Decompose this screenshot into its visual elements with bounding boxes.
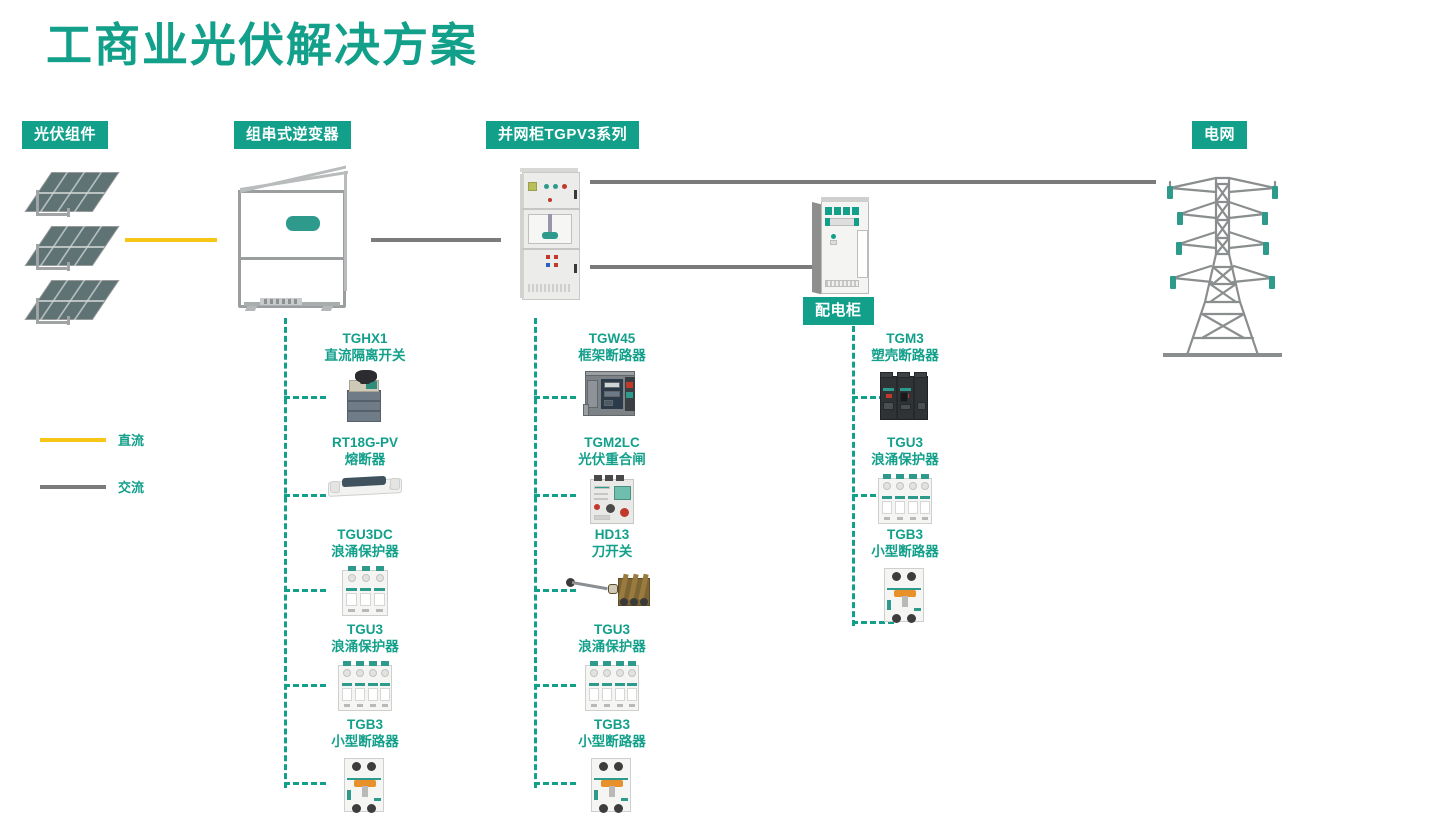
product-desc: 熔断器 bbox=[290, 451, 440, 468]
grid-cabinet-graphic bbox=[520, 168, 582, 300]
pv-panel-array-1 bbox=[26, 168, 110, 220]
product-desc: 光伏重合闸 bbox=[537, 451, 687, 468]
product-desc: 浪涌保护器 bbox=[537, 638, 687, 655]
stage-badge-distribution-cabinet[interactable]: 配电柜 bbox=[803, 297, 874, 325]
product-model: TGW45 bbox=[537, 330, 687, 347]
product-desc: 刀开关 bbox=[537, 543, 687, 560]
stage-badge-power-grid[interactable]: 电网 bbox=[1192, 121, 1247, 149]
product-desc: 直流隔离开关 bbox=[290, 347, 440, 364]
product-item[interactable]: TGM3 塑壳断路器 bbox=[830, 330, 980, 424]
product-desc: 塑壳断路器 bbox=[830, 347, 980, 364]
product-model: TGHX1 bbox=[290, 330, 440, 347]
product-item[interactable]: HD13 刀开关 bbox=[537, 526, 687, 614]
pv-panel-array-3 bbox=[26, 276, 110, 328]
product-model: TGB3 bbox=[290, 716, 440, 733]
product-model: TGU3DC bbox=[290, 526, 440, 543]
product-model: HD13 bbox=[537, 526, 687, 543]
product-item[interactable]: TGU3DC 浪涌保护器 bbox=[290, 526, 440, 620]
product-desc: 小型断路器 bbox=[290, 733, 440, 750]
product-model: TGU3 bbox=[290, 621, 440, 638]
product-item[interactable]: TGB3 小型断路器 bbox=[537, 716, 687, 816]
product-image-acb bbox=[581, 368, 643, 420]
pv-panel-array-2 bbox=[26, 222, 110, 274]
product-item[interactable]: TGU3 浪涌保护器 bbox=[537, 621, 687, 715]
legend-label-ac: 交流 bbox=[118, 477, 144, 496]
page-title: 工商业光伏解决方案 bbox=[46, 22, 478, 68]
connection-ac-grid-cabinet-to-grid bbox=[590, 180, 1156, 184]
string-inverter-graphic bbox=[234, 168, 374, 308]
product-model: TGU3 bbox=[830, 434, 980, 451]
product-model: TGB3 bbox=[537, 716, 687, 733]
product-desc: 浪涌保护器 bbox=[290, 638, 440, 655]
product-item[interactable]: TGB3 小型断路器 bbox=[290, 716, 440, 816]
product-desc: 框架断路器 bbox=[537, 347, 687, 364]
product-image-spd bbox=[581, 659, 643, 715]
product-model: TGU3 bbox=[537, 621, 687, 638]
connection-ac-inverter-to-grid-cabinet bbox=[371, 238, 501, 242]
connection-dc-pv-to-inverter bbox=[125, 238, 217, 242]
product-model: TGM2LC bbox=[537, 434, 687, 451]
power-grid-pylon-graphic bbox=[1155, 162, 1290, 360]
product-desc: 浪涌保护器 bbox=[830, 451, 980, 468]
product-image-knife-switch bbox=[564, 564, 660, 614]
product-item[interactable]: TGB3 小型断路器 bbox=[830, 526, 980, 626]
legend-item-dc: 直流 bbox=[40, 430, 144, 449]
product-desc: 浪涌保护器 bbox=[290, 543, 440, 560]
product-model: TGM3 bbox=[830, 330, 980, 347]
product-image-mcb bbox=[878, 564, 932, 626]
product-image-mcb bbox=[338, 754, 392, 816]
product-item[interactable]: TGM2LC 光伏重合闸 bbox=[537, 434, 687, 526]
product-image-spd bbox=[336, 564, 394, 620]
product-item[interactable]: TGW45 框架断路器 bbox=[537, 330, 687, 420]
tree-trunk-inverter-column bbox=[284, 318, 287, 788]
legend-swatch-ac bbox=[40, 485, 106, 489]
legend-item-ac: 交流 bbox=[40, 477, 144, 496]
legend-swatch-dc bbox=[40, 438, 106, 442]
diagram-canvas: 工商业光伏解决方案 光伏组件 组串式逆变器 并网柜TGPV3系列 配电柜 电网 bbox=[0, 0, 1436, 829]
product-image-mccb bbox=[874, 368, 936, 424]
product-image-spd bbox=[334, 659, 396, 715]
product-desc: 小型断路器 bbox=[830, 543, 980, 560]
product-desc: 小型断路器 bbox=[537, 733, 687, 750]
product-model: RT18G-PV bbox=[290, 434, 440, 451]
product-image-isolator bbox=[335, 368, 395, 426]
legend-label-dc: 直流 bbox=[118, 430, 144, 449]
distribution-cabinet-graphic bbox=[812, 196, 870, 294]
product-item[interactable]: TGU3 浪涌保护器 bbox=[290, 621, 440, 715]
product-item[interactable]: TGU3 浪涌保护器 bbox=[830, 434, 980, 528]
product-image-spd bbox=[874, 472, 936, 528]
stage-badge-pv-modules[interactable]: 光伏组件 bbox=[22, 121, 108, 149]
stage-badge-grid-cabinet[interactable]: 并网柜TGPV3系列 bbox=[486, 121, 639, 149]
connection-ac-grid-cabinet-to-distribution bbox=[590, 265, 812, 269]
stage-badge-string-inverter[interactable]: 组串式逆变器 bbox=[234, 121, 351, 149]
product-item[interactable]: RT18G-PV 熔断器 bbox=[290, 434, 440, 500]
product-image-fuse bbox=[328, 472, 402, 500]
product-image-mcb bbox=[585, 754, 639, 816]
product-item[interactable]: TGHX1 直流隔离开关 bbox=[290, 330, 440, 426]
product-image-recloser bbox=[584, 472, 640, 526]
product-model: TGB3 bbox=[830, 526, 980, 543]
